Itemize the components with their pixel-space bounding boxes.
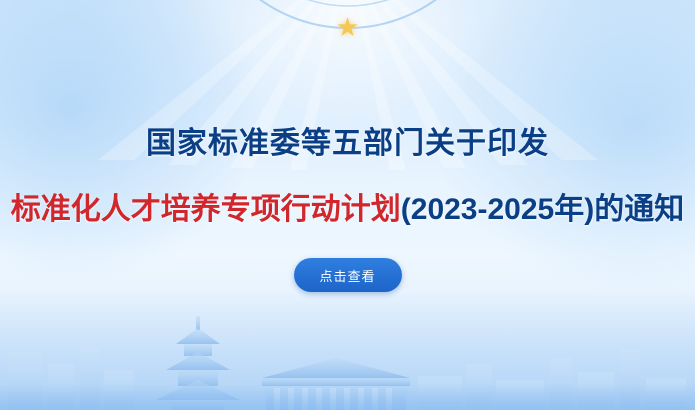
banner-content: 国家标准委等五部门关于印发 标准化人才培养专项行动计划(2023-2025年)的… — [0, 0, 695, 410]
page-title-highlight: 标准化人才培养专项行动计划 — [11, 193, 401, 226]
page-title-line1: 国家标准委等五部门关于印发 — [146, 118, 549, 162]
promo-banner: ★ — [0, 0, 695, 410]
page-title-suffix: (2023-2025年)的通知 — [401, 193, 684, 226]
page-title-line2: 标准化人才培养专项行动计划(2023-2025年)的通知 — [11, 184, 684, 228]
view-details-button[interactable]: 点击查看 — [294, 258, 402, 292]
